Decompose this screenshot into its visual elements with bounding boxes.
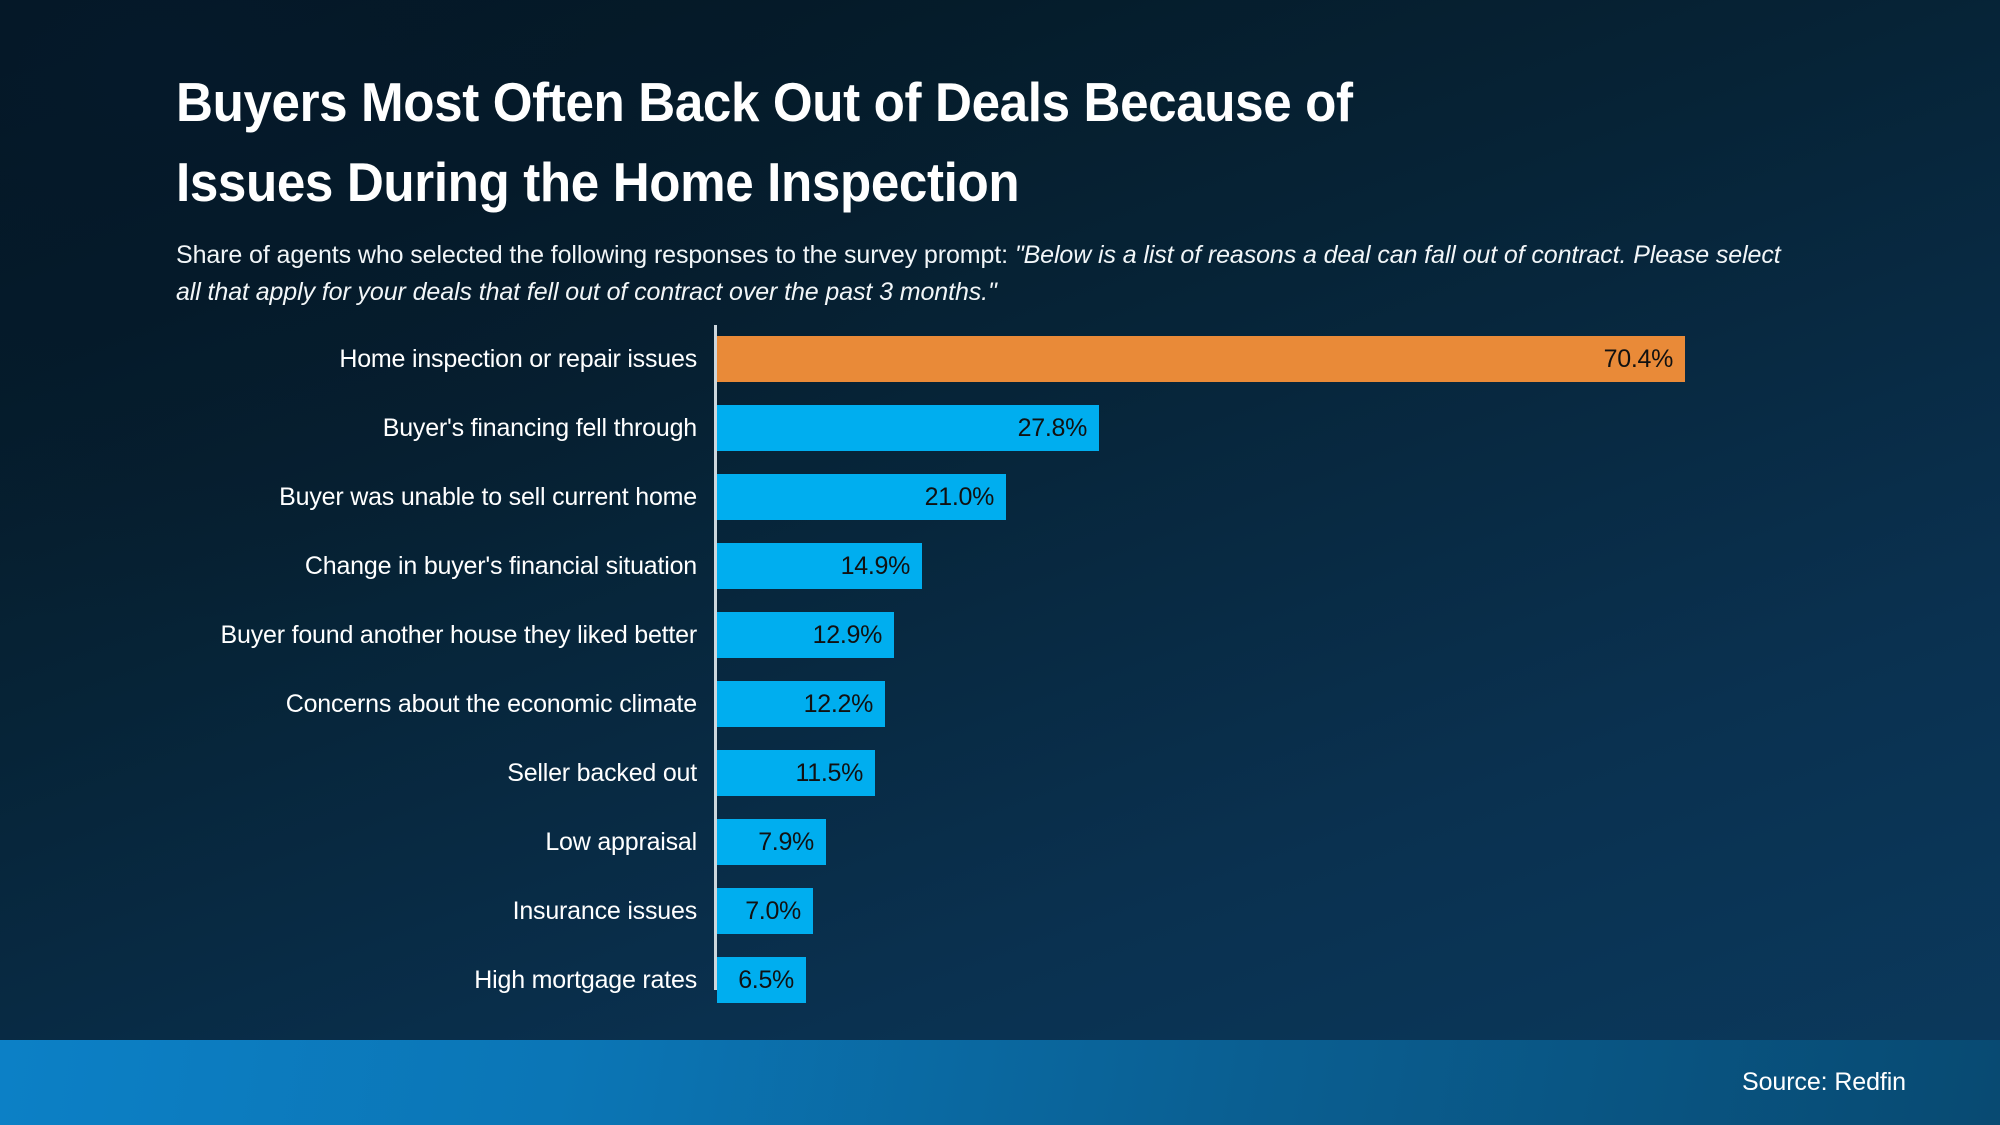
bar-container: 11.5% [717, 750, 875, 796]
chart-plot-area: Home inspection or repair issues70.4%Buy… [0, 325, 2000, 990]
chart-bar-row: Insurance issues7.0% [0, 877, 2000, 946]
bar-category-label: Seller backed out [0, 759, 697, 788]
source-attribution: Source: Redfin [1742, 1068, 2000, 1097]
bar-category-label: Home inspection or repair issues [0, 345, 697, 374]
chart-subtitle: Share of agents who selected the followi… [176, 237, 1791, 311]
bar-container: 7.9% [717, 819, 826, 865]
chart-bar-row: Home inspection or repair issues70.4% [0, 325, 2000, 394]
bar-category-label: Buyer found another house they liked bet… [0, 621, 697, 650]
page-title-line-1: Buyers Most Often Back Out of Deals Beca… [176, 62, 1794, 142]
bar-value-label: 12.9% [813, 621, 894, 650]
chart-header: Buyers Most Often Back Out of Deals Beca… [176, 62, 1916, 311]
bar[interactable]: 12.2% [717, 681, 885, 727]
chart-bar-row: Concerns about the economic climate12.2% [0, 670, 2000, 739]
bar-value-label: 12.2% [804, 690, 885, 719]
bar-container: 27.8% [717, 405, 1099, 451]
chart-bar-row: High mortgage rates6.5% [0, 946, 2000, 1015]
bar-container: 12.9% [717, 612, 894, 658]
bar-container: 12.2% [717, 681, 885, 727]
bar-category-label: Concerns about the economic climate [0, 690, 697, 719]
bar-container: 6.5% [717, 957, 806, 1003]
chart-bar-row: Buyer found another house they liked bet… [0, 601, 2000, 670]
bar[interactable]: 7.9% [717, 819, 826, 865]
bar-container: 70.4% [717, 336, 1685, 382]
bar-category-label: Buyer was unable to sell current home [0, 483, 697, 512]
bar-value-label: 14.9% [841, 552, 922, 581]
bar-category-label: Change in buyer's financial situation [0, 552, 697, 581]
bar[interactable]: 70.4% [717, 336, 1685, 382]
chart-bar-row: Buyer's financing fell through27.8% [0, 394, 2000, 463]
chart-canvas: Buyers Most Often Back Out of Deals Beca… [0, 0, 2000, 1125]
bar-container: 7.0% [717, 888, 813, 934]
bar-category-label: High mortgage rates [0, 966, 697, 995]
bar-container: 14.9% [717, 543, 922, 589]
bar-value-label: 21.0% [925, 483, 1006, 512]
bar-category-label: Low appraisal [0, 828, 697, 857]
chart-footer: Source: Redfin [0, 1040, 2000, 1125]
bar[interactable]: 14.9% [717, 543, 922, 589]
bar[interactable]: 12.9% [717, 612, 894, 658]
bar[interactable]: 27.8% [717, 405, 1099, 451]
bar-category-label: Insurance issues [0, 897, 697, 926]
subtitle-lead-text: Share of agents who selected the followi… [176, 241, 1008, 269]
chart-bar-row: Buyer was unable to sell current home21.… [0, 463, 2000, 532]
bar-container: 21.0% [717, 474, 1006, 520]
bar[interactable]: 21.0% [717, 474, 1006, 520]
chart-bar-row: Low appraisal7.9% [0, 808, 2000, 877]
chart-bar-row: Seller backed out11.5% [0, 739, 2000, 808]
bar-value-label: 6.5% [738, 966, 806, 995]
chart-bar-row: Change in buyer's financial situation14.… [0, 532, 2000, 601]
bar-value-label: 70.4% [1604, 345, 1685, 374]
bar-value-label: 7.9% [758, 828, 826, 857]
bar-value-label: 27.8% [1018, 414, 1099, 443]
bar[interactable]: 6.5% [717, 957, 806, 1003]
bar-value-label: 7.0% [745, 897, 813, 926]
page-title-line-2: Issues During the Home Inspection [176, 142, 1794, 222]
bar-chart: Home inspection or repair issues70.4%Buy… [0, 325, 2000, 995]
bar[interactable]: 11.5% [717, 750, 875, 796]
bar[interactable]: 7.0% [717, 888, 813, 934]
bar-category-label: Buyer's financing fell through [0, 414, 697, 443]
bar-value-label: 11.5% [795, 759, 875, 788]
